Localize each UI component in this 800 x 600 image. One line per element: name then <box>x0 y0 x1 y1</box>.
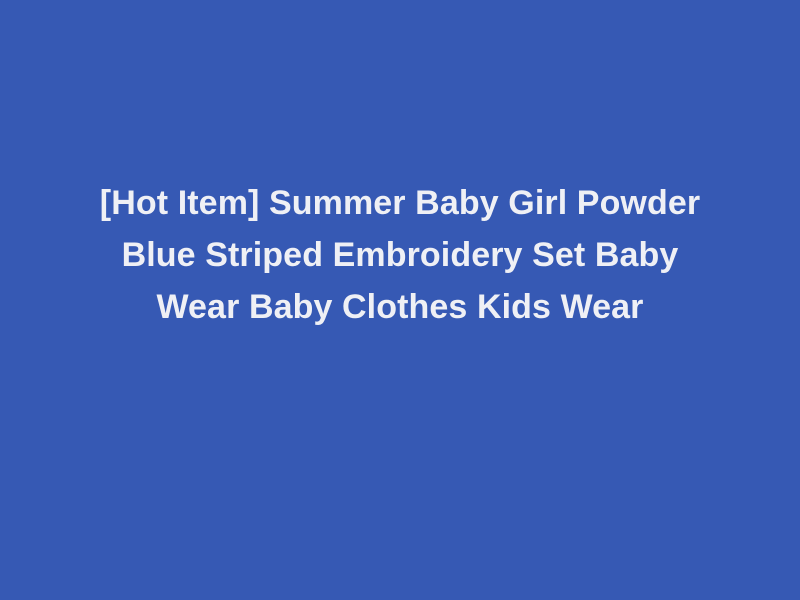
product-title-line-1: [Hot Item] Summer Baby Girl Powder <box>50 177 750 229</box>
product-title-line-3: Wear Baby Clothes Kids Wear <box>50 281 750 333</box>
product-title: [Hot Item] Summer Baby Girl Powder Blue … <box>50 177 750 333</box>
product-title-line-2: Blue Striped Embroidery Set Baby <box>50 229 750 281</box>
product-image-placeholder: [Hot Item] Summer Baby Girl Powder Blue … <box>0 0 800 600</box>
